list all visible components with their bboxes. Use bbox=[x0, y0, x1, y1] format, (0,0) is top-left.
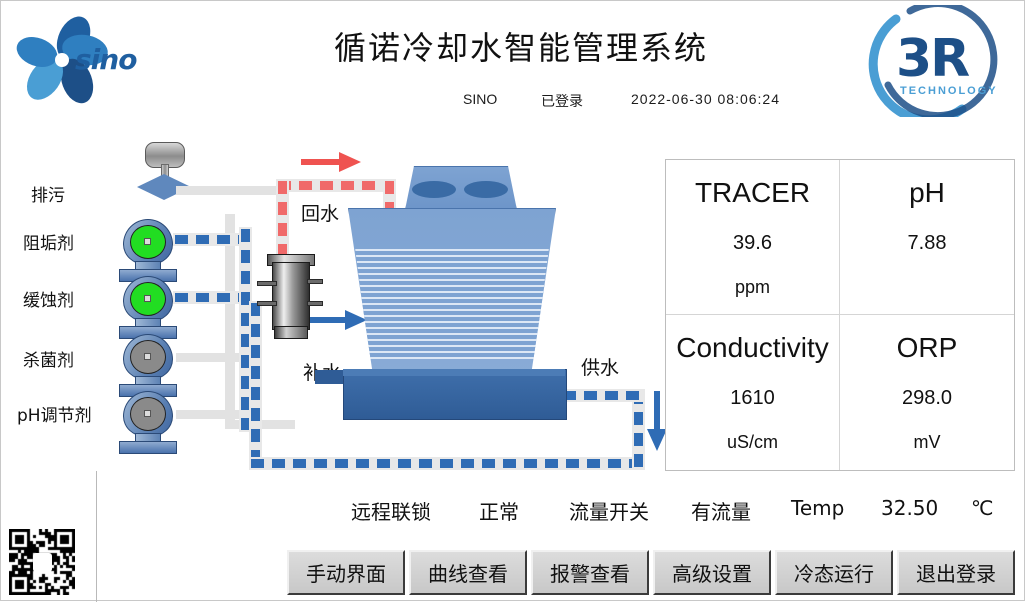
measurement-unit: uS/cm bbox=[727, 432, 778, 453]
flow-switch-label: 流量开关 bbox=[569, 496, 649, 525]
fan-blade-left bbox=[412, 181, 456, 198]
pump-center-dot bbox=[144, 238, 151, 245]
pump-ph-adjuster[interactable] bbox=[119, 391, 175, 453]
measurement-unit: mV bbox=[914, 432, 941, 453]
vessel-nozzle-upper-left bbox=[257, 281, 277, 286]
3r-tagline: TECHNOLOGY bbox=[900, 85, 998, 97]
measurement-unit: ppm bbox=[735, 277, 770, 298]
chem-label-ph-adjuster: pH调节剂 bbox=[17, 401, 92, 426]
pump-center-dot bbox=[144, 295, 151, 302]
heat-exchanger-vessel[interactable] bbox=[267, 254, 313, 340]
datetime: 2022-06-30 08:06:24 bbox=[631, 91, 780, 107]
qr-code[interactable] bbox=[9, 529, 75, 595]
3r-technology-logo: 3R TECHNOLOGY bbox=[866, 5, 1016, 117]
remote-interlock-value: 正常 bbox=[479, 496, 519, 525]
pump-biocide[interactable] bbox=[119, 334, 175, 396]
measurement-cell-orp: ORP 298.0 mV bbox=[840, 315, 1014, 470]
advanced-settings-button[interactable]: 高级设置 bbox=[653, 550, 771, 595]
pipe-loop-left bbox=[249, 301, 262, 469]
pipe-riser-gray bbox=[225, 214, 235, 429]
vessel-nozzle-lower-left bbox=[257, 301, 277, 306]
vessel-bottom-cap bbox=[274, 326, 308, 339]
measurement-value: 39.6 bbox=[733, 232, 772, 255]
chem-label-blowdown: 排污 bbox=[31, 181, 65, 206]
measurement-name: pH bbox=[909, 176, 945, 210]
temperature-unit: ℃ bbox=[971, 496, 993, 520]
manual-interface-button[interactable]: 手动界面 bbox=[287, 550, 405, 595]
cold-start-button[interactable]: 冷态运行 bbox=[775, 550, 893, 595]
pump-corrosion-inhibitor[interactable] bbox=[119, 276, 175, 338]
cooling-tower[interactable] bbox=[343, 166, 573, 418]
pump-scale-inhibitor[interactable] bbox=[119, 219, 175, 281]
page-title: 循诺冷却水智能管理系统 bbox=[241, 23, 801, 69]
sino-logo: sino bbox=[15, 15, 230, 107]
measurement-panel: TRACER 39.6 ppm pH 7.88 Conductivity 161… bbox=[665, 159, 1015, 471]
user-name: SINO bbox=[463, 91, 497, 107]
pipe-blowdown bbox=[176, 186, 286, 195]
temperature-value: 32.50 bbox=[881, 496, 938, 520]
cooling-tower-shell bbox=[348, 208, 556, 375]
measurement-name: Conductivity bbox=[676, 331, 829, 365]
qr-center-logo bbox=[33, 553, 52, 572]
measurement-name: ORP bbox=[897, 331, 958, 365]
flow-switch-value: 有流量 bbox=[691, 496, 751, 525]
pipe-dose-corrosion bbox=[173, 291, 243, 304]
remote-interlock-label: 远程联锁 bbox=[351, 496, 431, 525]
status-row: 远程联锁 正常 流量开关 有流量 Temp 32.50 ℃ bbox=[351, 496, 1011, 524]
chem-label-scale-inhibitor: 阻垢剂 bbox=[23, 229, 74, 254]
measurement-cell-tracer: TRACER 39.6 ppm bbox=[666, 160, 840, 315]
pump-center-dot bbox=[144, 353, 151, 360]
measurement-value: 298.0 bbox=[902, 387, 952, 410]
pipe-biocide bbox=[176, 353, 246, 362]
button-bar: 手动界面 曲线查看 报警查看 高级设置 冷态运行 退出登录 bbox=[287, 550, 1015, 595]
alarm-view-button[interactable]: 报警查看 bbox=[531, 550, 649, 595]
chem-label-corrosion-inhibitor: 缓蚀剂 bbox=[23, 286, 74, 311]
header-bar: sino 循诺冷却水智能管理系统 SINO 已登录 2022-06-30 08:… bbox=[1, 1, 1024, 126]
measurement-value: 1610 bbox=[730, 387, 775, 410]
pipe-dose-scale bbox=[173, 233, 243, 246]
application-window: sino 循诺冷却水智能管理系统 SINO 已登录 2022-06-30 08:… bbox=[0, 0, 1025, 601]
user-status-bar: SINO 已登录 2022-06-30 08:06:24 bbox=[401, 91, 901, 113]
cooling-tower-basin bbox=[343, 369, 567, 420]
cooling-tower-fan bbox=[405, 166, 517, 210]
pump-center-dot bbox=[144, 410, 151, 417]
bottom-divider bbox=[96, 471, 97, 602]
logout-button[interactable]: 退出登录 bbox=[897, 550, 1015, 595]
3r-wordmark: 3R bbox=[896, 29, 968, 89]
valve-left-wing bbox=[137, 174, 164, 200]
cooling-tower-louvers bbox=[349, 249, 555, 359]
pump-base bbox=[119, 441, 177, 454]
sino-wordmark: sino bbox=[75, 43, 136, 76]
measurement-name: TRACER bbox=[695, 176, 810, 210]
login-status: 已登录 bbox=[541, 91, 583, 111]
measurement-cell-ph: pH 7.88 bbox=[840, 160, 1014, 315]
measurement-cell-conductivity: Conductivity 1610 uS/cm bbox=[666, 315, 840, 470]
pipe-ph bbox=[176, 410, 246, 419]
label-supply-water: 供水 bbox=[581, 353, 619, 380]
temperature-label: Temp bbox=[791, 496, 844, 520]
pipe-supply-out bbox=[561, 389, 645, 402]
pipe-loop-bottom bbox=[249, 457, 645, 470]
vessel-nozzle-upper-right bbox=[307, 279, 323, 284]
label-return-water: 回水 bbox=[301, 199, 339, 226]
cooling-tower-basin-rim bbox=[343, 369, 565, 376]
vessel-nozzle-lower-right bbox=[307, 301, 323, 306]
measurement-value: 7.88 bbox=[908, 232, 947, 255]
chem-label-biocide: 杀菌剂 bbox=[23, 346, 74, 371]
trend-curve-button[interactable]: 曲线查看 bbox=[409, 550, 527, 595]
vessel-shell bbox=[272, 262, 310, 330]
fan-blade-right bbox=[464, 181, 508, 198]
